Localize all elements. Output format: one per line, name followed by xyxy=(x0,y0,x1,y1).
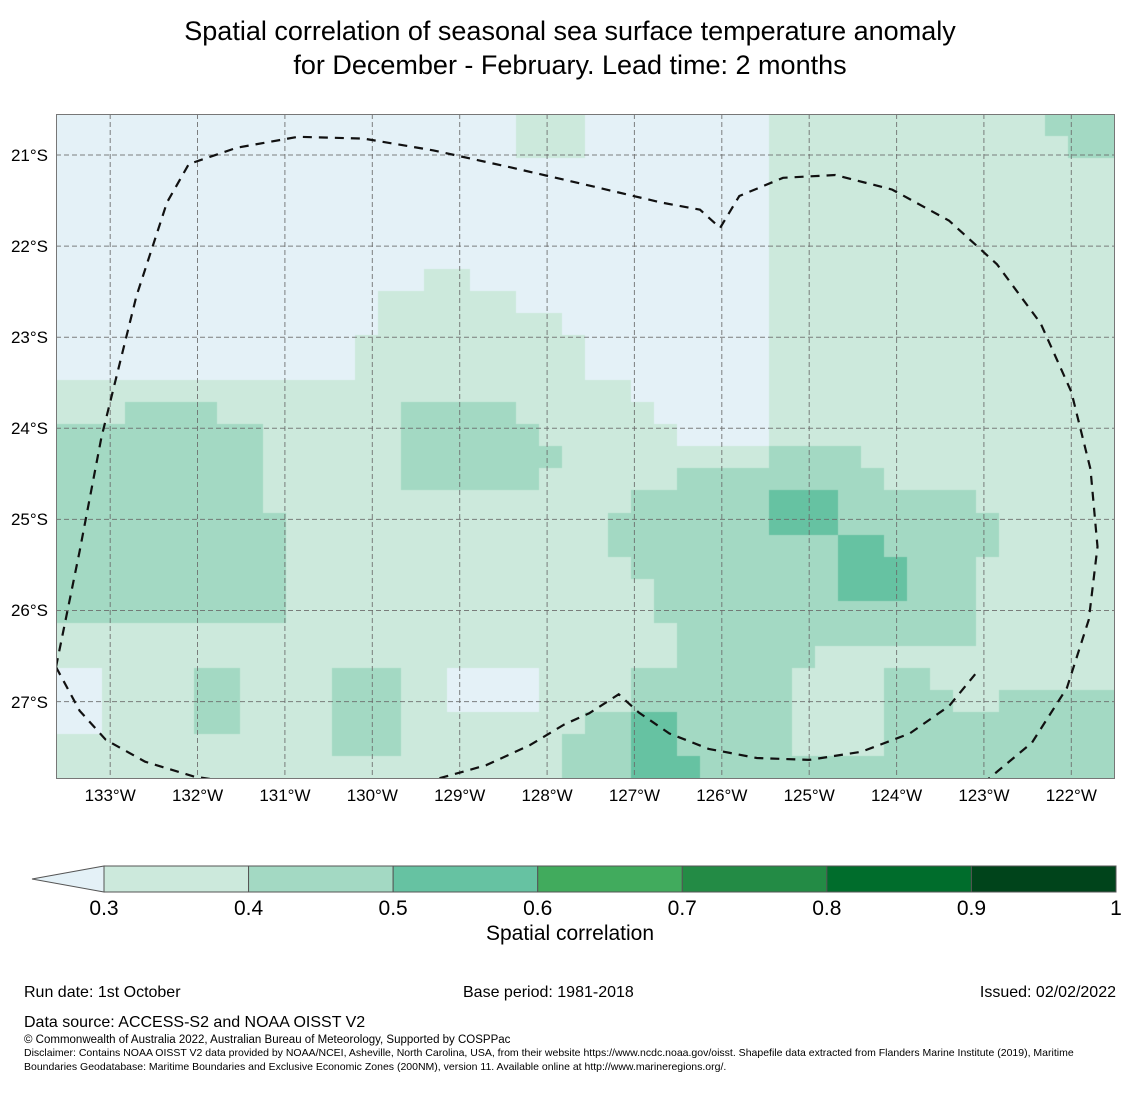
colorbar-tick-label: 0.4 xyxy=(209,897,289,921)
y-axis-tick-label: 22°S xyxy=(0,237,48,257)
x-axis-tick-label: 122°W xyxy=(1021,786,1121,806)
colorbar-swatches xyxy=(0,862,1140,896)
colorbar-tick-label: 0.6 xyxy=(498,897,578,921)
issued-date: Issued: 02/02/2022 xyxy=(980,984,1116,1002)
x-axis-tick-label: 127°W xyxy=(584,786,684,806)
x-axis-tick-label: 125°W xyxy=(759,786,859,806)
run-date: Run date: 1st October xyxy=(24,984,181,1002)
colorbar-tick-label: 0.9 xyxy=(931,897,1011,921)
page-title: Spatial correlation of seasonal sea surf… xyxy=(0,14,1140,82)
x-axis-tick-label: 126°W xyxy=(672,786,772,806)
colorbar-tick-label: 0.8 xyxy=(787,897,867,921)
x-axis-tick-label: 132°W xyxy=(148,786,248,806)
y-axis-tick-label: 26°S xyxy=(0,601,48,621)
map-panel xyxy=(56,114,1115,779)
colorbar-tick-label: 0.5 xyxy=(353,897,433,921)
colorbar-tick-label: 0.3 xyxy=(64,897,144,921)
x-axis-tick-label: 131°W xyxy=(235,786,335,806)
y-axis-tick-label: 27°S xyxy=(0,693,48,713)
data-source: Data source: ACCESS-S2 and NOAA OISST V2 xyxy=(24,1014,365,1032)
y-axis-tick-label: 21°S xyxy=(0,146,48,166)
copyright-notice: © Commonwealth of Australia 2022, Austra… xyxy=(24,1034,510,1046)
disclaimer-text: Disclaimer: Contains NOAA OISST V2 data … xyxy=(24,1047,1129,1074)
x-axis-tick-label: 130°W xyxy=(322,786,422,806)
y-axis-tick-label: 23°S xyxy=(0,328,48,348)
metadata-row: Run date: 1st October Base period: 1981-… xyxy=(0,984,1140,1006)
x-axis-tick-label: 133°W xyxy=(60,786,160,806)
colorbar-tick-label: 1 xyxy=(1076,897,1140,921)
x-axis-tick-label: 129°W xyxy=(410,786,510,806)
x-axis-tick-label: 123°W xyxy=(934,786,1034,806)
colorbar-label: Spatial correlation xyxy=(0,922,1140,946)
eez-boundary-line xyxy=(56,114,1115,779)
colorbar-panel: 0.30.40.50.60.70.80.91 Spatial correlati… xyxy=(0,862,1140,958)
x-axis-tick-label: 124°W xyxy=(847,786,947,806)
base-period: Base period: 1981-2018 xyxy=(463,984,634,1002)
colorbar-tick-label: 0.7 xyxy=(642,897,722,921)
x-axis-tick-label: 128°W xyxy=(497,786,597,806)
y-axis-tick-label: 24°S xyxy=(0,419,48,439)
y-axis-tick-label: 25°S xyxy=(0,510,48,530)
